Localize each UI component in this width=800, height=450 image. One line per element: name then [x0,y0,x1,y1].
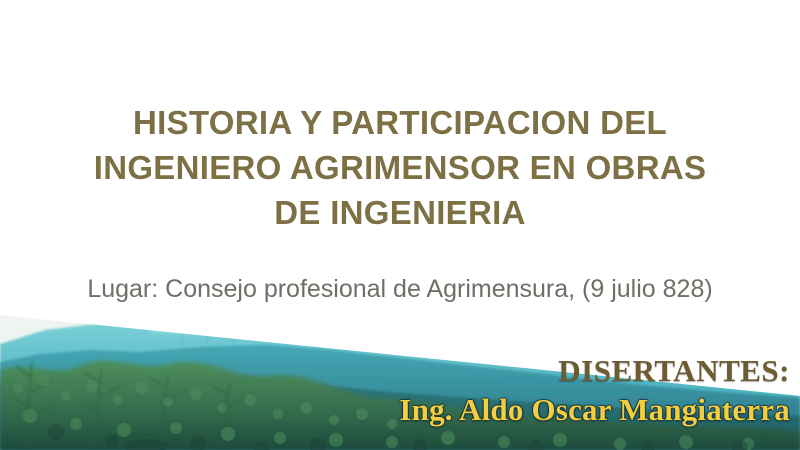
speaker-name: Ing. Aldo Oscar Mangiaterra [399,390,790,430]
page-title: HISTORIA Y PARTICIPACION DEL INGENIERO A… [0,100,800,235]
title-line-2: INGENIERO AGRIMENSOR EN OBRAS [0,145,800,190]
speakers-label: DISERTANTES: [399,352,790,390]
event-poster: HISTORIA Y PARTICIPACION DEL INGENIERO A… [0,0,800,450]
speakers-section: DISERTANTES: Ing. Aldo Oscar Mangiaterra [399,352,790,430]
title-line-3: DE INGENIERIA [0,190,800,235]
title-line-1: HISTORIA Y PARTICIPACION DEL [0,100,800,145]
venue-text: Lugar: Consejo profesional de Agrimensur… [0,272,800,306]
